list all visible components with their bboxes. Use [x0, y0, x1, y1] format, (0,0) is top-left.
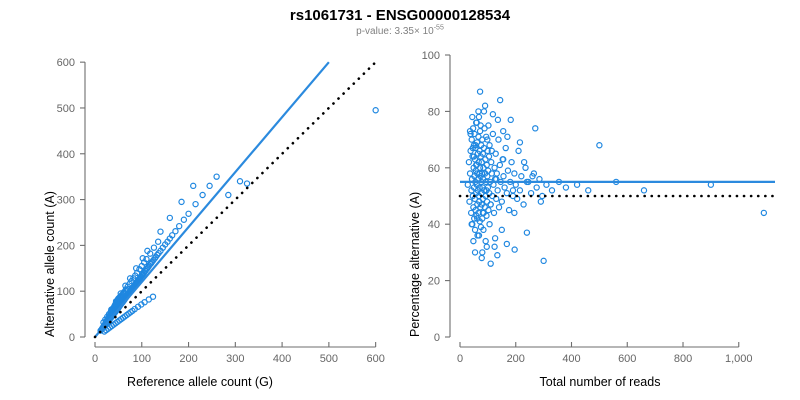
- data-point: [497, 162, 502, 167]
- y-tick-label: 40: [428, 219, 440, 231]
- figure-container: rs1061731 - ENSG00000128534 p-value: 3.3…: [0, 0, 800, 400]
- data-point: [226, 192, 231, 197]
- data-point: [498, 98, 503, 103]
- data-point: [486, 208, 491, 213]
- data-point: [214, 174, 219, 179]
- x-tick-label: 0: [457, 353, 463, 365]
- data-point: [484, 244, 489, 249]
- data-point: [151, 245, 156, 250]
- data-point: [512, 210, 517, 215]
- scatter-plot-percentage-alternative: 02040608010002004006008001,000: [400, 0, 800, 400]
- data-point: [533, 126, 538, 131]
- data-point: [492, 165, 497, 170]
- panel-percentage-alternative: 02040608010002004006008001,000 Total num…: [400, 0, 800, 400]
- panel-allele-counts: 01002003004005006000100200300400500600 R…: [0, 0, 400, 400]
- x-tick-label: 500: [320, 353, 338, 365]
- data-point: [505, 168, 510, 173]
- data-point: [469, 137, 474, 142]
- data-point: [499, 199, 504, 204]
- data-point: [483, 239, 488, 244]
- data-point: [524, 230, 529, 235]
- data-point-group: [465, 89, 766, 266]
- data-point: [522, 160, 527, 165]
- y-tick-label: 0: [434, 332, 440, 344]
- x-tick-label: 0: [92, 353, 98, 365]
- data-point: [471, 239, 476, 244]
- x-tick-label: 400: [273, 353, 291, 365]
- data-point: [470, 114, 475, 119]
- y-tick-label: 0: [69, 332, 75, 344]
- data-point: [489, 160, 494, 165]
- data-point: [494, 171, 499, 176]
- data-point: [472, 227, 477, 232]
- data-point: [488, 261, 493, 266]
- data-point: [158, 229, 163, 234]
- data-point: [510, 188, 515, 193]
- data-point: [501, 129, 506, 134]
- data-point: [517, 188, 522, 193]
- data-point: [506, 208, 511, 213]
- data-point: [472, 250, 477, 255]
- data-point: [173, 229, 178, 234]
- data-point: [597, 143, 602, 148]
- data-point: [487, 222, 492, 227]
- y-tick-label: 200: [57, 240, 75, 252]
- y-tick-label: 60: [428, 163, 440, 175]
- data-point: [193, 202, 198, 207]
- data-point: [481, 109, 486, 114]
- data-point: [150, 294, 155, 299]
- x-tick-label: 300: [226, 353, 244, 365]
- x-tick-label: 600: [366, 353, 384, 365]
- data-point: [479, 255, 484, 260]
- y-axis-title-left: Alternative allele count (A): [43, 191, 57, 337]
- data-point: [476, 114, 481, 119]
- data-point: [177, 224, 182, 229]
- y-tick-label: 600: [57, 57, 75, 69]
- data-point: [491, 210, 496, 215]
- data-point: [502, 185, 507, 190]
- data-point: [191, 183, 196, 188]
- y-tick-label: 300: [57, 195, 75, 207]
- data-point: [534, 185, 539, 190]
- y-tick-label: 500: [57, 103, 75, 115]
- data-point: [505, 134, 510, 139]
- data-point: [503, 145, 508, 150]
- data-point: [509, 160, 514, 165]
- data-point: [373, 108, 378, 113]
- data-point: [244, 181, 249, 186]
- x-tick-label: 200: [179, 353, 197, 365]
- y-tick-label: 400: [57, 149, 75, 161]
- data-point: [563, 185, 568, 190]
- data-point: [490, 131, 495, 136]
- data-point: [200, 192, 205, 197]
- data-point: [512, 247, 517, 252]
- data-point: [482, 103, 487, 108]
- x-tick-label: 600: [618, 353, 636, 365]
- y-tick-label: 80: [428, 106, 440, 118]
- data-point: [508, 117, 513, 122]
- data-point: [478, 123, 483, 128]
- data-point: [466, 160, 471, 165]
- data-point: [521, 202, 526, 207]
- data-point: [496, 205, 501, 210]
- data-point: [541, 258, 546, 263]
- data-point: [504, 241, 509, 246]
- data-point: [516, 148, 521, 153]
- x-axis-title-right: Total number of reads: [400, 375, 800, 389]
- data-point: [486, 123, 491, 128]
- data-point: [156, 239, 161, 244]
- data-point: [492, 244, 497, 249]
- data-point: [538, 199, 543, 204]
- data-point: [237, 179, 242, 184]
- data-point: [517, 140, 522, 145]
- data-point: [549, 188, 554, 193]
- data-point: [186, 211, 191, 216]
- data-point: [207, 183, 212, 188]
- data-point: [523, 165, 528, 170]
- x-tick-label: 400: [562, 353, 580, 365]
- x-axis-title-left: Reference allele count (G): [0, 375, 400, 389]
- x-tick-label: 200: [507, 353, 525, 365]
- y-tick-label: 20: [428, 276, 440, 288]
- x-tick-label: 1,000: [725, 353, 753, 365]
- data-point: [761, 210, 766, 215]
- y-axis-title-right: Percentage alternative (A): [408, 192, 422, 337]
- data-point: [467, 199, 472, 204]
- data-point: [495, 188, 500, 193]
- x-tick-label: 800: [674, 353, 692, 365]
- data-point: [495, 117, 500, 122]
- data-point: [512, 171, 517, 176]
- data-point-group: [98, 108, 378, 334]
- data-point: [480, 250, 485, 255]
- reference-line: [95, 62, 376, 337]
- data-point: [486, 154, 491, 159]
- data-point: [477, 89, 482, 94]
- data-point: [641, 188, 646, 193]
- y-tick-label: 100: [422, 50, 440, 62]
- data-point: [499, 227, 504, 232]
- data-point: [488, 202, 493, 207]
- x-tick-label: 100: [133, 353, 151, 365]
- data-point: [495, 253, 500, 258]
- data-point: [504, 191, 509, 196]
- data-point: [496, 137, 501, 142]
- y-tick-label: 100: [57, 286, 75, 298]
- fit-line: [95, 62, 329, 337]
- data-point: [501, 174, 506, 179]
- data-point: [487, 143, 492, 148]
- data-point: [490, 112, 495, 117]
- data-point: [179, 199, 184, 204]
- data-point: [586, 188, 591, 193]
- data-point: [493, 236, 498, 241]
- data-point: [519, 174, 524, 179]
- scatter-plot-allele-counts: 01002003004005006000100200300400500600: [0, 0, 400, 400]
- data-point: [476, 109, 481, 114]
- data-point: [181, 217, 186, 222]
- data-point: [167, 215, 172, 220]
